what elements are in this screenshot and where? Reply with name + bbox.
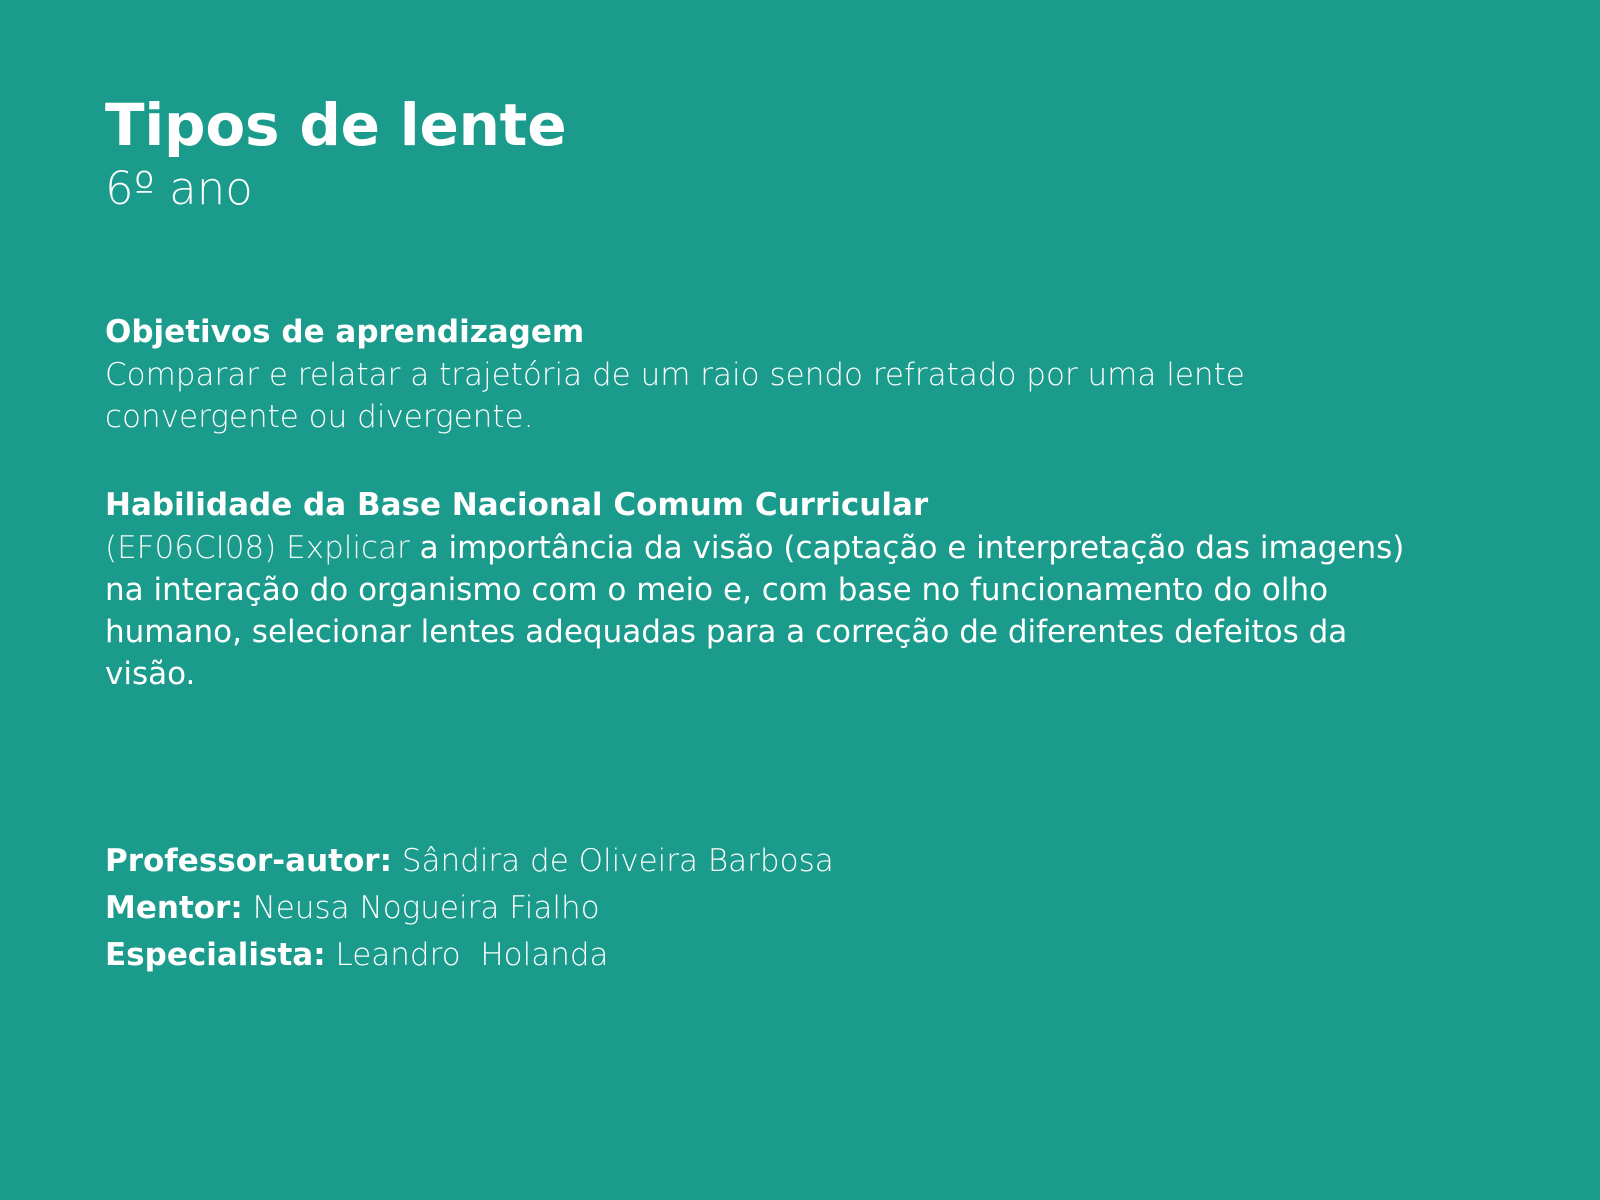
credit-line-mentor: Mentor: Neusa Nogueira Fialho [105,885,1430,932]
content-body: Objetivos de aprendizagem Comparar e rel… [105,312,1430,696]
slide-root: Tipos de lente 6º ano Objetivos de apren… [0,0,1600,1200]
section-objetivos: Objetivos de aprendizagem Comparar e rel… [105,312,1430,439]
credit-role-especialista: Especialista: [105,937,326,973]
section-text-bncc: (EF06CI08) Explicar a importância da vis… [105,527,1430,696]
section-heading-bncc: Habilidade da Base Nacional Comum Curric… [105,485,1430,525]
page-subtitle: 6º ano [105,162,1435,215]
credit-role-mentor: Mentor: [105,890,243,926]
credit-line-professor-autor: Professor-autor: Sândira de Oliveira Bar… [105,838,1430,885]
section-bncc: Habilidade da Base Nacional Comum Curric… [105,485,1430,696]
credit-name-mentor: Neusa Nogueira Fialho [243,890,600,926]
credit-name-especialista: Leandro Holanda [326,937,609,973]
bncc-skill-code: (EF06CI08) Explicar [105,530,420,566]
title-block: Tipos de lente 6º ano [105,96,1435,215]
section-text-objetivos: Comparar e relatar a trajetória de um ra… [105,354,1430,438]
credit-role-professor-autor: Professor-autor: [105,843,392,879]
section-heading-objetivos: Objetivos de aprendizagem [105,312,1430,352]
credit-name-professor-autor: Sândira de Oliveira Barbosa [392,843,834,879]
page-title: Tipos de lente [105,96,1435,156]
credits-block: Professor-autor: Sândira de Oliveira Bar… [105,838,1430,979]
credit-line-especialista: Especialista: Leandro Holanda [105,932,1430,979]
